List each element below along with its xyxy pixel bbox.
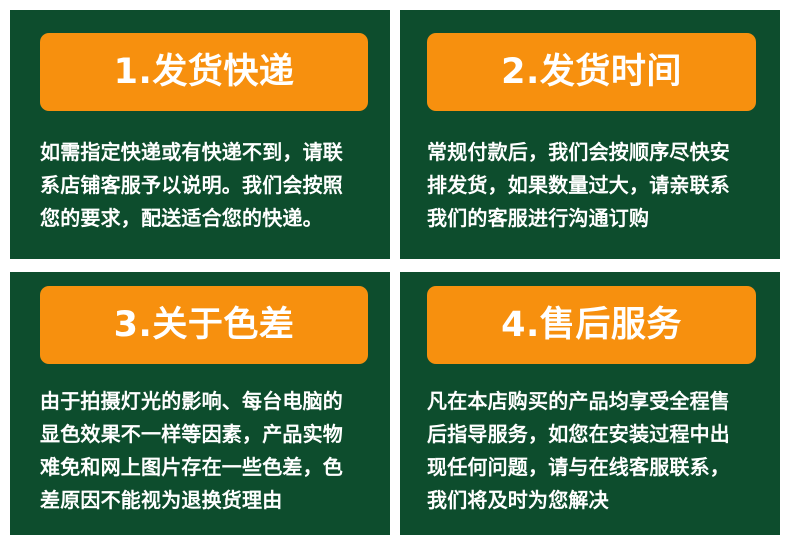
panel-body-2: 常规付款后，我们会按顺序尽快安 排发货，如果数量过大，请亲联系 我们的客服进行沟… [427, 136, 757, 235]
panel-shipping-courier: 1.发货快递 如需指定快递或有快递不到，请联 系店铺客服予以说明。我们会按照 您… [10, 10, 390, 259]
panel-color-difference: 3.关于色差 由于拍摄灯光的影响、每台电脑的 显色效果不一样等因素，产品实物 难… [10, 272, 390, 535]
body-line: 我们的客服进行沟通订购 [427, 202, 757, 235]
panel-grid: 1.发货快递 如需指定快递或有快递不到，请联 系店铺客服予以说明。我们会按照 您… [10, 10, 780, 535]
panel-title-4: 4.售后服务 [501, 308, 682, 343]
body-line: 现任何问题，请与在线客服联系， [427, 451, 757, 484]
body-line: 排发货，如果数量过大，请亲联系 [427, 169, 757, 202]
panel-banner-3: 3.关于色差 [40, 286, 368, 364]
panel-banner-4: 4.售后服务 [427, 286, 756, 364]
panel-body-3: 由于拍摄灯光的影响、每台电脑的 显色效果不一样等因素，产品实物 难免和网上图片存… [40, 385, 370, 517]
body-line: 差原因不能视为退换货理由 [40, 484, 370, 517]
panel-shipping-time: 2.发货时间 常规付款后，我们会按顺序尽快安 排发货，如果数量过大，请亲联系 我… [400, 10, 780, 259]
body-line: 凡在本店购买的产品均享受全程售 [427, 385, 757, 418]
body-line: 由于拍摄灯光的影响、每台电脑的 [40, 385, 370, 418]
panel-content: 4.售后服务 凡在本店购买的产品均享受全程售 后指导服务，如您在安装过程中出 现… [400, 272, 780, 535]
body-line: 显色效果不一样等因素，产品实物 [40, 418, 370, 451]
body-line: 如需指定快递或有快递不到，请联 [40, 136, 370, 169]
body-line: 难免和网上图片存在一些色差，色 [40, 451, 370, 484]
panel-title-3: 3.关于色差 [114, 308, 295, 343]
panel-content: 2.发货时间 常规付款后，我们会按顺序尽快安 排发货，如果数量过大，请亲联系 我… [400, 10, 780, 259]
body-line: 后指导服务，如您在安装过程中出 [427, 418, 757, 451]
panel-body-4: 凡在本店购买的产品均享受全程售 后指导服务，如您在安装过程中出 现任何问题，请与… [427, 385, 757, 517]
panel-body-1: 如需指定快递或有快递不到，请联 系店铺客服予以说明。我们会按照 您的要求，配送适… [40, 136, 370, 235]
notice-panels-page: 1.发货快递 如需指定快递或有快递不到，请联 系店铺客服予以说明。我们会按照 您… [0, 0, 790, 535]
body-line: 您的要求，配送适合您的快递。 [40, 202, 370, 235]
panel-title-1: 1.发货快递 [114, 55, 295, 90]
panel-content: 1.发货快递 如需指定快递或有快递不到，请联 系店铺客服予以说明。我们会按照 您… [10, 10, 390, 259]
panel-after-sales-service: 4.售后服务 凡在本店购买的产品均享受全程售 后指导服务，如您在安装过程中出 现… [400, 272, 780, 535]
panel-content: 3.关于色差 由于拍摄灯光的影响、每台电脑的 显色效果不一样等因素，产品实物 难… [10, 272, 390, 535]
panel-banner-2: 2.发货时间 [427, 33, 756, 111]
panel-title-2: 2.发货时间 [501, 55, 682, 90]
body-line: 常规付款后，我们会按顺序尽快安 [427, 136, 757, 169]
body-line: 我们将及时为您解决 [427, 484, 757, 517]
panel-banner-1: 1.发货快递 [40, 33, 368, 111]
body-line: 系店铺客服予以说明。我们会按照 [40, 169, 370, 202]
